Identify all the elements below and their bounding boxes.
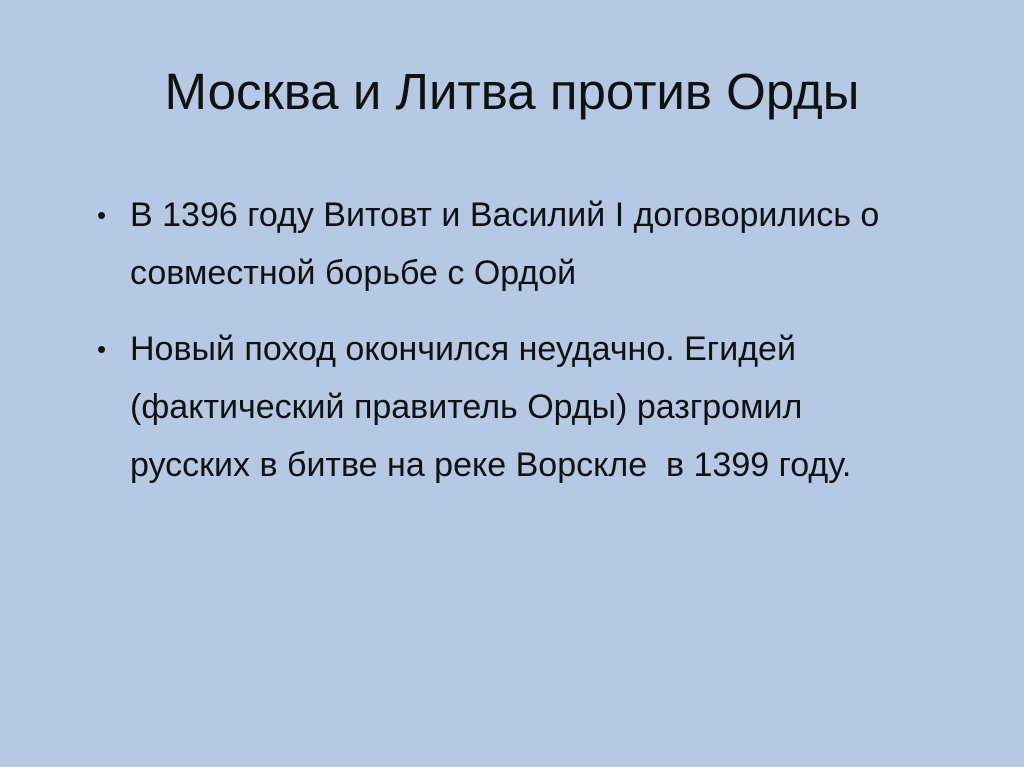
list-item: • Новый поход окончился неудачно. Егидей… [90,320,920,494]
presentation-slide: Москва и Литва против Орды • В 1396 году… [0,0,1024,767]
slide-body: • В 1396 году Витовт и Василий I договор… [90,186,920,494]
list-item-text: Новый поход окончился неудачно. Егидей (… [130,320,920,494]
bullet-point-icon: • [97,320,117,378]
page-title: Москва и Литва против Орды [62,62,962,122]
list-item-text: В 1396 году Витовт и Василий I договорил… [130,186,920,302]
list-item: • В 1396 году Витовт и Василий I договор… [90,186,920,302]
bullet-point-icon: • [97,186,117,244]
